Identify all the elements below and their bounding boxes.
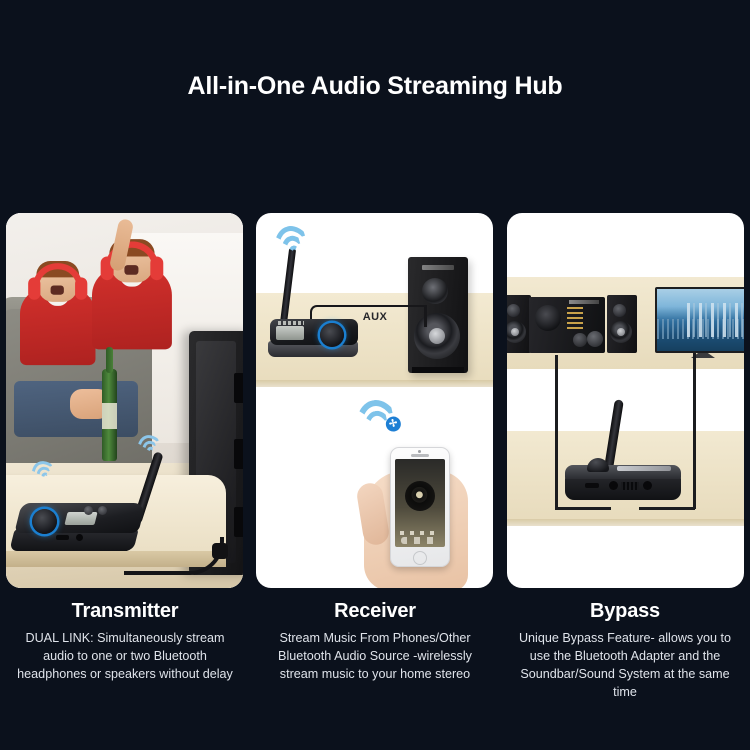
caption-heading: Receiver	[250, 600, 500, 623]
volume-knob	[320, 323, 344, 347]
bluetooth-receiver-device	[270, 319, 358, 361]
shelf-edge-lower	[507, 519, 744, 526]
front-camera-icon	[418, 450, 421, 453]
caption-transmitter: Transmitter DUAL LINK: Simultaneously st…	[0, 600, 250, 684]
usb-port	[56, 535, 69, 540]
connection-wire-stereo	[555, 507, 611, 510]
player-icons	[400, 531, 440, 535]
caption-receiver: Receiver Stream Music From Phones/Other …	[250, 600, 500, 684]
device-button	[98, 506, 107, 515]
hand-holding-phone	[376, 439, 493, 588]
caption-bypass: Bypass Unique Bypass Feature- allows you…	[500, 600, 750, 702]
device-button	[84, 506, 93, 515]
audio-jack	[76, 534, 83, 541]
connection-wire-tv	[639, 507, 695, 510]
player-transport-controls[interactable]	[401, 537, 439, 544]
connection-wire-stereo	[555, 355, 558, 509]
led-indicators	[278, 321, 304, 325]
audio-jack-aux	[643, 481, 652, 490]
caption-description: Unique Bypass Feature- allows you to use…	[513, 630, 737, 702]
stereo-amplifier	[529, 297, 605, 353]
amp-dial	[535, 305, 561, 331]
smartphone	[390, 447, 450, 567]
caption-description: Stream Music From Phones/Other Bluetooth…	[263, 630, 487, 684]
volume-knob	[32, 509, 57, 534]
feature-panels: ✢ AUX ✢	[6, 213, 744, 588]
device-display	[64, 512, 97, 525]
stereo-speaker-left	[507, 295, 531, 353]
aux-label: AUX	[352, 311, 398, 323]
phone-screen	[395, 459, 445, 547]
caption-description: DUAL LINK: Simultaneously stream audio t…	[13, 630, 237, 684]
beer-bottle	[102, 369, 117, 461]
tv-screen-image	[657, 289, 744, 351]
stereo-speaker-right	[607, 295, 637, 353]
living-room-scene: ✢	[6, 213, 243, 588]
shelf-edge-upper	[507, 365, 744, 372]
home-button[interactable]	[413, 551, 427, 565]
panel-transmitter-image: ✢	[6, 213, 243, 588]
panel-captions: Transmitter DUAL LINK: Simultaneously st…	[0, 600, 750, 750]
caption-heading: Bypass	[500, 600, 750, 623]
connection-wire-tv	[693, 353, 696, 509]
device-display	[617, 466, 671, 471]
caption-heading: Transmitter	[0, 600, 250, 623]
panel-bypass-image	[507, 213, 744, 588]
panel-receiver-image: AUX ✢	[256, 213, 493, 588]
flat-screen-tv	[655, 287, 744, 359]
album-art-vinyl	[405, 481, 435, 511]
home-stereo-system	[507, 295, 637, 357]
device-display	[276, 326, 304, 340]
bluetooth-signal-icon: ✢	[349, 394, 403, 439]
tweeter	[422, 278, 448, 304]
cord-plug	[212, 543, 228, 559]
wifi-signal-icon	[266, 219, 316, 262]
page-title: All-in-One Audio Streaming Hub	[0, 72, 750, 101]
amp-led-meter	[567, 307, 583, 329]
audio-jack-optical	[609, 481, 618, 490]
usb-port	[585, 483, 599, 488]
bluetooth-adapter-device	[565, 465, 681, 505]
shelf-edge	[256, 380, 493, 387]
